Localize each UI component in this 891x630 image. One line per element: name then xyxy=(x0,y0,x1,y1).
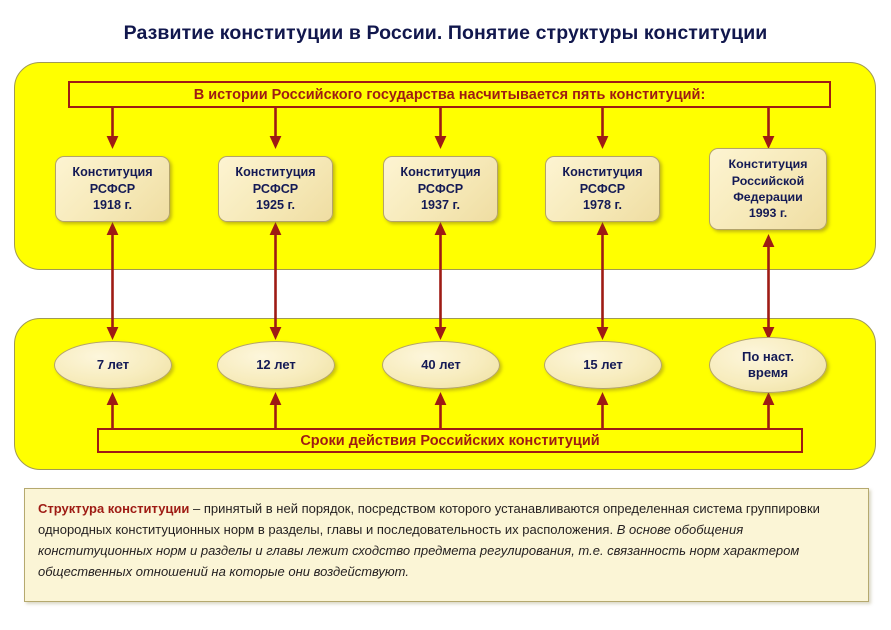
constitution-box-1925[interactable]: Конституция РСФСР 1925 г. xyxy=(218,156,333,222)
arrow-down-2 xyxy=(267,108,284,150)
top-panel-banner: В истории Российского государства насчит… xyxy=(68,81,831,108)
duration-ellipse-4[interactable]: 15 лет xyxy=(544,341,662,389)
constitution-box-1918[interactable]: Конституция РСФСР 1918 г. xyxy=(55,156,170,222)
duration-ellipse-5[interactable]: По наст. время xyxy=(709,337,827,393)
constitution-box-1918-line-3: 1918 г. xyxy=(93,197,132,214)
constitution-box-1978[interactable]: Конституция РСФСР 1978 г. xyxy=(545,156,660,222)
definition-box: Структура конституции – принятый в ней п… xyxy=(24,488,869,602)
constitution-box-1978-line-3: 1978 г. xyxy=(583,197,622,214)
arrow-up-2 xyxy=(267,392,284,430)
arrow-up-5 xyxy=(760,392,777,430)
constitution-box-1918-line-2: РСФСР xyxy=(90,181,135,198)
constitution-box-1993-line-3: Федерации xyxy=(733,189,803,205)
constitution-box-1993-line-1: Конституция xyxy=(729,156,808,172)
arrow-up-4 xyxy=(594,392,611,430)
arrow-double-vertical-2 xyxy=(267,222,284,340)
duration-ellipse-3[interactable]: 40 лет xyxy=(382,341,500,389)
constitution-box-1925-line-1: Конституция xyxy=(235,164,315,181)
arrow-down-5 xyxy=(760,108,777,150)
constitution-box-1937-line-2: РСФСР xyxy=(418,181,463,198)
constitution-box-1978-line-2: РСФСР xyxy=(580,181,625,198)
duration-ellipse-5-line-2: время xyxy=(748,365,788,381)
arrow-down-1 xyxy=(104,108,121,150)
slide-root: Развитие конституции в России. Понятие с… xyxy=(0,0,891,630)
page-title: Развитие конституции в России. Понятие с… xyxy=(0,22,891,45)
arrow-up-1 xyxy=(104,392,121,430)
duration-ellipse-1[interactable]: 7 лет xyxy=(54,341,172,389)
bottom-panel-banner: Сроки действия Российских конституций xyxy=(97,428,803,453)
arrow-down-4 xyxy=(594,108,611,150)
arrow-double-vertical-4 xyxy=(594,222,611,340)
constitution-box-1993-line-2: Российской xyxy=(732,173,805,189)
duration-ellipse-5-line-1: По наст. xyxy=(742,349,794,365)
duration-ellipse-4-line-1: 15 лет xyxy=(583,357,623,373)
constitution-box-1918-line-1: Конституция xyxy=(72,164,152,181)
constitution-box-1993-line-4: 1993 г. xyxy=(749,205,787,221)
constitution-box-1925-line-3: 1925 г. xyxy=(256,197,295,214)
definition-lead: Структура конституции xyxy=(38,501,189,516)
arrow-double-vertical-1 xyxy=(104,222,121,340)
duration-ellipse-2-line-1: 12 лет xyxy=(256,357,296,373)
duration-ellipse-2[interactable]: 12 лет xyxy=(217,341,335,389)
constitution-box-1925-line-2: РСФСР xyxy=(253,181,298,198)
arrow-double-vertical-3 xyxy=(432,222,449,340)
constitution-box-1937-line-3: 1937 г. xyxy=(421,197,460,214)
arrow-double-vertical-5 xyxy=(760,234,777,340)
constitution-box-1937[interactable]: Конституция РСФСР 1937 г. xyxy=(383,156,498,222)
arrow-up-3 xyxy=(432,392,449,430)
constitution-box-1937-line-1: Конституция xyxy=(400,164,480,181)
definition-text: Структура конституции – принятый в ней п… xyxy=(38,498,855,582)
constitution-box-1978-line-1: Конституция xyxy=(562,164,642,181)
duration-ellipse-3-line-1: 40 лет xyxy=(421,357,461,373)
duration-ellipse-1-line-1: 7 лет xyxy=(97,357,129,373)
arrow-down-3 xyxy=(432,108,449,150)
constitution-box-1993[interactable]: Конституция Российской Федерации 1993 г. xyxy=(709,148,827,230)
